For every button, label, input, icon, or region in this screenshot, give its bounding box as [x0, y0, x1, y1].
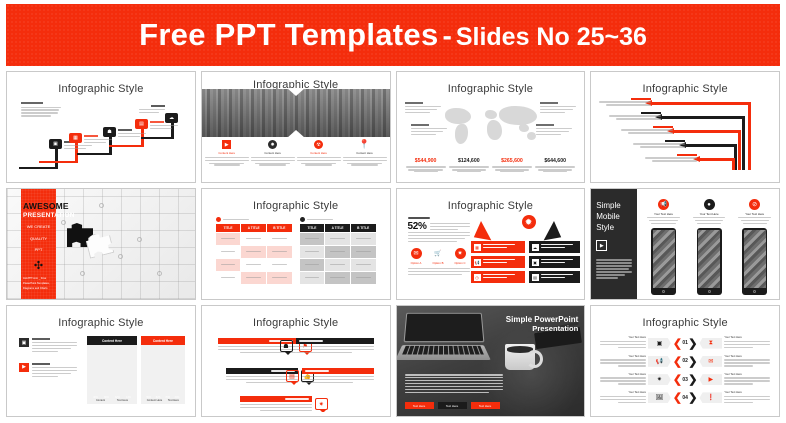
slide-card-6[interactable]: Infographic Style TITLE A TITLE B TITLE [201, 188, 391, 300]
row-bar [296, 338, 374, 344]
table-header-cell: TITLE [300, 224, 325, 232]
map-callout[interactable] [540, 102, 576, 115]
bubble-row[interactable]: ☗ [280, 338, 374, 355]
arrow-label [599, 98, 651, 107]
panel-line-1: Simple [596, 201, 632, 212]
bullet-icon [300, 217, 305, 222]
phone-frame [651, 228, 676, 295]
monitor-icon: ▣ [49, 139, 62, 149]
table-header-row: TITLE A TITLE B TITLE [216, 224, 292, 232]
value-amount: $544,900 [406, 158, 446, 164]
camera-icon: ▣ [648, 338, 671, 349]
cloud-icon: ☁ [532, 244, 539, 251]
right-banner[interactable]: ▣ [529, 256, 581, 268]
map-values: $544,900 $124,600 $265,600 $644,600 [406, 158, 576, 172]
row-text-left: Your Text Here [600, 355, 646, 369]
left-heading: Your Text Here [600, 355, 646, 358]
slide-grid: Infographic Style [0, 71, 786, 423]
step-caption [139, 105, 165, 115]
option-item[interactable]: 🛒 Option B [430, 248, 447, 265]
left-banner[interactable]: 📢 [471, 256, 525, 268]
slide-title: Infographic Style [595, 310, 775, 329]
table-row [216, 259, 292, 271]
photo-column[interactable]: ▶ Content Here [205, 140, 249, 166]
bar-chart-1: Content Here 40% 80% 62% 14% Content Tex… [87, 336, 137, 404]
chevron-left-icon: ❮ [673, 337, 682, 350]
right-banner[interactable]: ▤ [529, 271, 581, 283]
slide-6: Infographic Style TITLE A TITLE B TITLE [206, 193, 386, 295]
slide-title: Infographic Style [11, 310, 191, 329]
globe-icon: ✹ [522, 215, 536, 229]
banner-title-main: Free PPT Templates [139, 17, 438, 52]
right-heading: Your Text Here [724, 391, 770, 394]
banner-title-sub: Slides No 25~36 [456, 23, 647, 51]
circle-icon: ● [704, 199, 715, 210]
table-row [300, 259, 376, 271]
panel-line-3: Style [596, 223, 632, 234]
cover-buttons: Text Here Text Here Text Here [405, 402, 500, 409]
briefcase-icon: ▦ [69, 133, 82, 143]
laptop-image [399, 312, 487, 364]
page-banner: Free PPT Templates-Slides No 25~36 [6, 4, 780, 66]
chevron-left-icon: ❮ [673, 391, 682, 404]
map-callout[interactable] [411, 124, 447, 137]
chevron-left-icon: ❮ [673, 355, 682, 368]
row-text-left: Your Text Here [600, 391, 646, 405]
tables-container: TITLE A TITLE B TITLE [216, 217, 376, 285]
chevron-right-icon: ❯ [688, 373, 697, 386]
table-row [216, 246, 292, 258]
slide-3: Infographic Style [401, 76, 581, 178]
megaphone-icon: 📢 [658, 199, 669, 210]
map-callout[interactable] [405, 102, 441, 115]
person-icon: ☗ [103, 127, 116, 137]
slide-1: Infographic Style [11, 76, 191, 178]
chart-header: Content Here [87, 336, 137, 345]
city-photo [202, 89, 390, 137]
phone-screen [653, 230, 675, 288]
table-row [300, 233, 376, 245]
clock-icon: ◷ [474, 274, 481, 281]
megaphone-icon: 📢 [648, 356, 671, 367]
cover-button[interactable]: Text Here [438, 402, 467, 409]
slide-5: AWESOME PRESENTATION WE CREATE QUALITY P… [7, 189, 195, 299]
bar-chart-2: Content Here 55% 82% 78% 30% Content Her… [141, 336, 185, 404]
chat-icon: ✉ [411, 248, 422, 259]
step-timeline: ▣ ▦ ☗ [17, 98, 185, 173]
option-label: Option A [408, 261, 425, 265]
note-heading [21, 102, 43, 104]
table-red: TITLE A TITLE B TITLE [216, 217, 292, 285]
right-heading: Your Text Here [724, 373, 770, 376]
left-banner[interactable]: ▦ [471, 241, 525, 253]
table-header-cell: B TITLE [267, 224, 292, 232]
step-caption [118, 129, 146, 139]
row-bar [240, 396, 312, 402]
banner-title: Free PPT Templates-Slides No 25~36 [139, 17, 647, 53]
puzzle-piece-icon: ✣ [23, 259, 54, 272]
photo-columns: ▶ Content Here ✸ Content Here ☢ Content … [205, 140, 387, 166]
chevron-number: ❮ 02 ❯ [673, 355, 698, 368]
phone-item[interactable]: ⊘ Your Text Here [734, 199, 775, 295]
slide-card-11[interactable]: Simple PowerPoint Presentation Text Here… [396, 305, 586, 417]
image-icon: ▣ [19, 338, 29, 347]
table-caption [300, 217, 376, 222]
axis-label: Text Here [168, 399, 179, 402]
right-banner[interactable]: ☁ [529, 241, 581, 253]
slide-card-1[interactable]: Infographic Style [6, 71, 196, 183]
cover-line-5: PPT [23, 246, 54, 254]
left-banner[interactable]: ◷ [471, 271, 525, 283]
lock-icon: ▤ [286, 370, 299, 382]
row-text-right: Your Text Here [724, 373, 770, 387]
timeline-step-2[interactable]: ▦ [69, 133, 82, 143]
chart-legend: ▣ ▶ [19, 338, 77, 388]
arrow-label [621, 126, 673, 135]
chevron-row[interactable]: Your Text Here ✷ ❮ 03 ❯ ▶ Your Text Here [600, 373, 770, 387]
legend-item: ▶ [19, 363, 77, 379]
pin-icon: 📍 [360, 140, 369, 149]
row-number: 01 [682, 340, 688, 346]
phone-screen [698, 230, 720, 288]
stat-percent: 52% [408, 221, 427, 232]
chevron-right-icon: ❯ [688, 391, 697, 404]
map-value: $265,600 [492, 158, 532, 172]
left-heading: Your Text Here [600, 373, 646, 376]
row-number: 04 [682, 395, 688, 401]
block-icon: ⊘ [749, 199, 760, 210]
option-label: Option B [430, 261, 447, 265]
phone-label: Your Text Here [654, 212, 673, 216]
panel-line-2: Mobile [596, 212, 632, 223]
chat-icon: ✉ [699, 356, 722, 367]
bent-arrow-group [595, 76, 775, 178]
table-black: TITLE A TITLE B TITLE [300, 217, 376, 285]
coffee-mug-image [505, 344, 535, 370]
arrow-label [645, 154, 697, 163]
right-heading: Your Text Here [724, 355, 770, 358]
axis-label: Content [96, 399, 105, 402]
phone-item[interactable]: ● Your Text Here [689, 199, 730, 295]
cover-line-1: AWESOME [23, 201, 54, 211]
value-amount: $124,600 [449, 158, 489, 164]
slide-card-8[interactable]: Simple Mobile Style ▶ 📢 Your Text Here [590, 188, 780, 300]
row-number: 02 [682, 358, 688, 364]
column-heading: Content Here [297, 151, 341, 155]
image-icon: 🖼 [648, 392, 671, 403]
arrow-label [609, 112, 661, 121]
chevron-number: ❮ 04 ❯ [673, 391, 698, 404]
row-text-right: Your Text Here [724, 355, 770, 369]
lock-icon: ▤ [135, 119, 148, 129]
cover-button[interactable]: Text Here [405, 402, 434, 409]
phone-frame [697, 228, 722, 295]
slide-title: Infographic Style [206, 310, 386, 329]
slide-4: Infographic Style [595, 76, 775, 178]
timeline-note [21, 102, 61, 118]
axis-label: Text Here [117, 399, 128, 402]
chevron-row[interactable]: Your Text Here 🖼 ❮ 04 ❯ ❗ Your Text Here [600, 391, 770, 405]
slide-2: Infographic Style ▶ Content Here ✸ Conte… [202, 72, 390, 182]
timeline-step-1[interactable]: ▣ [49, 139, 62, 149]
value-amount: $265,600 [492, 158, 532, 164]
play-icon: ▶ [19, 363, 29, 372]
phone-label: Your Text Here [700, 212, 719, 216]
table-header-cell: B TITLE [351, 224, 376, 232]
cover-line-3: WE CREATE [23, 223, 54, 231]
dark-title-panel: Simple Mobile Style ▶ [591, 189, 637, 299]
cover-line-2: PRESENTATION [23, 212, 54, 219]
axis-label: Content Here [147, 399, 162, 402]
photo-column[interactable]: ☢ Content Here [297, 140, 341, 166]
chevron-right-icon: ❯ [688, 337, 697, 350]
row-text-right: Your Text Here [724, 391, 770, 405]
chevron-list: Your Text Here ▣ ❮ 01 ❯ ⧗ Your Text Here [600, 334, 770, 407]
cover-line-1: Simple PowerPoint [506, 315, 578, 324]
map-value: $644,600 [535, 158, 575, 172]
cover-button[interactable]: Text Here [471, 402, 500, 409]
column-heading: Content Here [343, 151, 387, 155]
slide-9: Infographic Style ▣ ▶ [11, 310, 191, 412]
chevron-row[interactable]: Your Text Here ▣ ❮ 01 ❯ ⧗ Your Text Here [600, 336, 770, 350]
play-icon: ▶ [222, 140, 231, 149]
row-text-right: Your Text Here [724, 336, 770, 350]
timeline-step-4[interactable]: ▤ [135, 119, 148, 129]
slide-title: Infographic Style [401, 76, 581, 95]
cover-line-2: Presentation [506, 324, 578, 333]
left-heading: Your Text Here [600, 391, 646, 394]
person-icon: ☗ [280, 340, 293, 352]
map-value: $124,600 [449, 158, 489, 172]
table-header-row: TITLE A TITLE B TITLE [300, 224, 376, 232]
row-bar [302, 368, 374, 374]
home-button-icon [753, 290, 756, 293]
home-button-icon [662, 290, 665, 293]
slide-card-2[interactable]: Infographic Style ▶ Content Here ✸ Conte… [201, 71, 391, 183]
world-map [441, 102, 541, 146]
bubble-row[interactable]: ▤ [286, 368, 374, 385]
chart-axis: Content Here Text Here [144, 399, 182, 402]
column-heading: Content Here [205, 151, 249, 155]
chevron-number: ❮ 01 ❯ [673, 337, 698, 350]
camera-icon: ▣ [532, 259, 539, 266]
chevron-number: ❮ 03 ❯ [673, 373, 698, 386]
slide-11: Simple PowerPoint Presentation Text Here… [397, 306, 585, 416]
slide-card-7[interactable]: Infographic Style 52% ✉ Option A [396, 188, 586, 300]
phone-label: Your Text Here [745, 212, 764, 216]
slide-8: Simple Mobile Style ▶ 📢 Your Text Here [591, 189, 779, 299]
chart-axis: Content Text Here [90, 399, 134, 402]
cover-title: Simple PowerPoint Presentation [506, 315, 578, 333]
chart-bars: 40% 80% 62% 14% [90, 348, 134, 395]
row-number: 03 [682, 377, 688, 383]
timeline-step-5[interactable]: ☁ [165, 113, 178, 123]
slide-card-3[interactable]: Infographic Style [396, 71, 586, 183]
radiation-icon: ☢ [314, 140, 323, 149]
table-caption [216, 217, 292, 222]
value-amount: $644,600 [535, 158, 575, 164]
table-row [216, 233, 292, 245]
gear-icon: ✷ [455, 248, 466, 259]
option-item[interactable]: ✉ Option A [408, 248, 425, 265]
timeline-step-3[interactable]: ☗ [103, 127, 116, 137]
home-button-icon [708, 290, 711, 293]
right-heading: Your Text Here [724, 336, 770, 339]
slide-card-12[interactable]: Infographic Style Your Text Here ▣ ❮ 01 … [590, 305, 780, 417]
play-icon: ▶ [699, 374, 722, 385]
cloud-icon: ☁ [165, 113, 178, 123]
chart-header: Content Here [141, 336, 185, 345]
cover-line-4: QUALITY [23, 235, 54, 243]
caption-text [307, 219, 333, 220]
play-icon: ▶ [596, 240, 607, 251]
slide-title: Infographic Style [206, 193, 386, 212]
slide-title: Infographic Style [11, 76, 191, 95]
chevron-row[interactable]: Your Text Here 📢 ❮ 02 ❯ ✉ Your Text Here [600, 355, 770, 369]
slide-7: Infographic Style 52% ✉ Option A [401, 193, 581, 295]
caption-text [223, 219, 249, 220]
gear-icon: ✷ [648, 374, 671, 385]
stat-block: 52% ✉ Option A 🛒 Option B [408, 217, 470, 277]
phone-mockups: 📢 Your Text Here ● Your Text Here [643, 199, 775, 295]
slide-title: Infographic Style [401, 193, 581, 212]
map-value: $544,900 [406, 158, 446, 172]
phone-frame [742, 228, 767, 295]
table-header-cell: A TITLE [241, 224, 266, 232]
arrow-label [633, 140, 685, 149]
option-item[interactable]: ✷ Option C [452, 248, 469, 265]
map-callout[interactable] [536, 124, 572, 137]
bubble-row[interactable]: ✷ [240, 396, 328, 412]
column-heading: Content Here [251, 151, 295, 155]
gear-icon: ✸ [268, 140, 277, 149]
hourglass-icon: ⧗ [699, 338, 722, 349]
slide-card-10[interactable]: Infographic Style ⚑ ☗ [201, 305, 391, 417]
left-heading: Your Text Here [600, 336, 646, 339]
slide-card-4[interactable]: Infographic Style [590, 71, 780, 183]
table-row [300, 272, 376, 284]
legend-item: ▣ [19, 338, 77, 354]
monitor-icon: ▤ [532, 274, 539, 281]
slide-12: Infographic Style Your Text Here ▣ ❮ 01 … [595, 310, 775, 412]
exclamation-icon: ❗ [699, 392, 722, 403]
phone-item[interactable]: 📢 Your Text Here [643, 199, 684, 295]
chart-bars: 55% 82% 78% 30% [144, 348, 182, 395]
slide-card-9[interactable]: Infographic Style ▣ ▶ [6, 305, 196, 417]
row-text-left: Your Text Here [600, 336, 646, 350]
cover-body [405, 374, 503, 395]
briefcase-icon: ▦ [474, 244, 481, 251]
option-icons: ✉ Option A 🛒 Option B ✷ Option C [408, 248, 470, 265]
photo-column[interactable]: 📍 Content Here [343, 140, 387, 166]
chevron-left-icon: ❮ [673, 373, 682, 386]
banner-dash: - [439, 20, 456, 51]
title-band: AWESOME PRESENTATION WE CREATE QUALITY P… [21, 189, 56, 299]
star-icon: ✷ [315, 398, 328, 410]
cart-icon: 🛒 [433, 248, 444, 259]
template-gallery-page: Free PPT Templates-Slides No 25~36 Infog… [0, 0, 786, 423]
table-header-cell: A TITLE [325, 224, 350, 232]
row-text-left: Your Text Here [600, 373, 646, 387]
bullet-icon [216, 217, 221, 222]
table-header-cell: TITLE [216, 224, 241, 232]
table-row [216, 272, 292, 284]
phone-screen [744, 230, 766, 288]
table-row [300, 246, 376, 258]
chevron-right-icon: ❯ [688, 355, 697, 368]
photo-column[interactable]: ✸ Content Here [251, 140, 295, 166]
slide-card-5[interactable]: AWESOME PRESENTATION WE CREATE QUALITY P… [6, 188, 196, 300]
megaphone-icon: 📢 [474, 259, 481, 266]
slide-10: Infographic Style ⚑ ☗ [206, 310, 386, 412]
option-label: Option C [452, 261, 469, 265]
